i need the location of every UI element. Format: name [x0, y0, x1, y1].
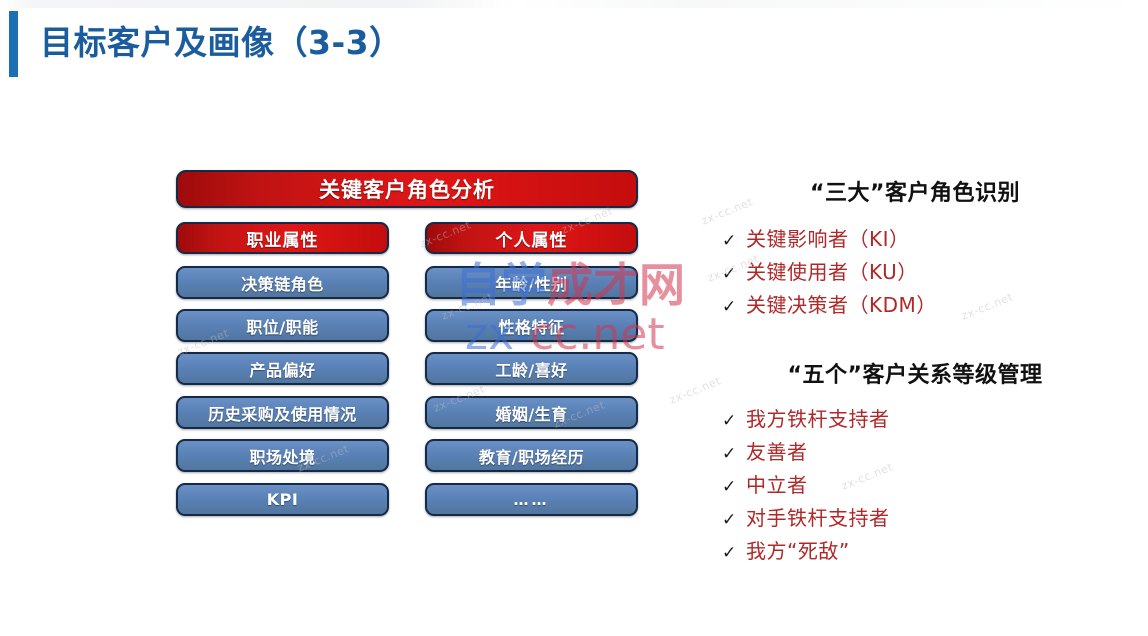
panel-section-three-major: “三大”客户角色识别 ✓ 关键影响者（KI） ✓ 关键使用者（KU） ✓ 关键决… [700, 175, 1130, 321]
check-icon: ✓ [722, 440, 746, 468]
item-box[interactable]: KPI [176, 483, 389, 516]
list-item-label: 关键影响者（KI） [746, 225, 910, 253]
section-heading-five-levels: “五个”客户关系等级管理 [700, 357, 1130, 389]
check-icon: ✓ [722, 407, 746, 435]
check-list-five-levels: ✓ 我方铁杆支持者 ✓ 友善者 ✓ 中立者 ✓ 对手铁杆支持者 ✓ 我方“死 [700, 405, 1130, 567]
list-item-label: 对手铁杆支持者 [746, 504, 890, 532]
list-item[interactable]: ✓ 关键使用者（KU） [722, 258, 1130, 288]
column-header-personal: 个人属性 [425, 222, 638, 254]
top-edge-band [0, 0, 1148, 8]
list-item-label: 关键使用者（KU） [746, 258, 918, 286]
list-item-label: 中立者 [746, 471, 808, 499]
list-item[interactable]: ✓ 友善者 [722, 438, 1130, 468]
item-box[interactable]: 年龄/性别 [425, 266, 638, 299]
item-box[interactable]: 产品偏好 [176, 352, 389, 385]
item-box[interactable]: 教育/职场经历 [425, 439, 638, 472]
item-box[interactable]: 决策链角色 [176, 266, 389, 299]
role-identification-panel: “三大”客户角色识别 ✓ 关键影响者（KI） ✓ 关键使用者（KU） ✓ 关键决… [700, 175, 1130, 570]
page-title: 目标客户及画像（3-3） [40, 21, 403, 65]
check-icon: ✓ [722, 293, 746, 321]
list-item[interactable]: ✓ 对手铁杆支持者 [722, 504, 1130, 534]
item-box[interactable]: 职场处境 [176, 439, 389, 472]
item-box[interactable]: 历史采购及使用情况 [176, 396, 389, 429]
check-icon: ✓ [722, 506, 746, 534]
slide-canvas: 目标客户及画像（3-3） 关键客户角色分析 职业属性 决策链角色 职位/职能 产… [0, 0, 1148, 636]
check-icon: ✓ [722, 539, 746, 567]
check-list-three-major: ✓ 关键影响者（KI） ✓ 关键使用者（KU） ✓ 关键决策者（KDM） [700, 225, 1130, 321]
list-item[interactable]: ✓ 中立者 [722, 471, 1130, 501]
list-item[interactable]: ✓ 关键影响者（KI） [722, 225, 1130, 255]
check-icon: ✓ [722, 227, 746, 255]
list-item[interactable]: ✓ 关键决策者（KDM） [722, 291, 1130, 321]
item-box[interactable]: 工龄/喜好 [425, 352, 638, 385]
list-item-label: 我方铁杆支持者 [746, 405, 890, 433]
diagram-title-box: 关键客户角色分析 [176, 170, 638, 208]
panel-section-five-levels: “五个”客户关系等级管理 ✓ 我方铁杆支持者 ✓ 友善者 ✓ 中立者 ✓ 对手铁… [700, 357, 1130, 567]
check-icon: ✓ [722, 260, 746, 288]
item-box[interactable]: 性格特征 [425, 309, 638, 342]
item-box[interactable]: 职位/职能 [176, 309, 389, 342]
section-heading-three-major: “三大”客户角色识别 [700, 175, 1130, 207]
item-box[interactable]: …… [425, 483, 638, 516]
list-item-label: 关键决策者（KDM） [746, 291, 937, 319]
list-item-label: 友善者 [746, 438, 808, 466]
list-item-label: 我方“死敌” [746, 537, 850, 565]
check-icon: ✓ [722, 473, 746, 501]
list-item[interactable]: ✓ 我方“死敌” [722, 537, 1130, 567]
item-box[interactable]: 婚姻/生育 [425, 396, 638, 429]
title-accent-bar [9, 11, 18, 77]
list-item[interactable]: ✓ 我方铁杆支持者 [722, 405, 1130, 435]
column-header-occupational: 职业属性 [176, 222, 389, 254]
